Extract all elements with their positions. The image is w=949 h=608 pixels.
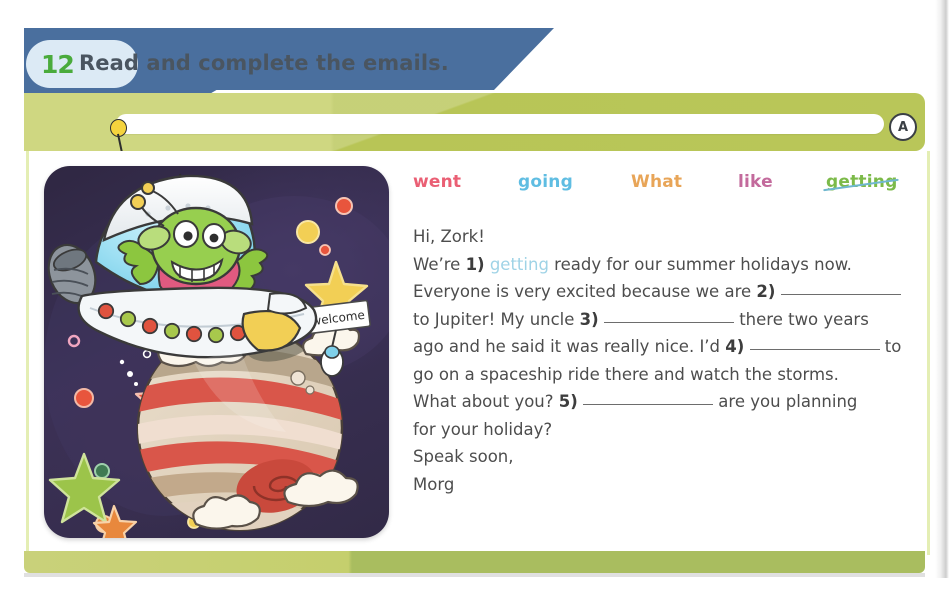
blank-number-1: 1) [466,255,485,274]
worksheet-page: 12 Read and complete the emails. A [0,0,949,608]
email-signature: Morg [413,475,454,494]
email-text: What about you? [413,392,559,411]
card-bottom-bar [24,551,925,573]
section-badge: A [889,113,917,141]
word-bank-item-what[interactable]: What [631,172,682,192]
word-bank-item-going[interactable]: going [518,172,573,192]
email-line: Everyone is very excited because we are … [413,278,933,306]
email-line: Speak soon, [413,443,933,471]
email-closing: Speak soon, [413,447,514,466]
email-line: ago and he said it was really nice. I’d … [413,333,933,361]
space-illustration-svg: welcome [44,166,389,538]
answer-blank-4[interactable] [750,349,880,350]
email-line: for your holiday? [413,416,933,444]
email-text: ago and he said it was really nice. I’d [413,337,725,356]
name-answer-bar[interactable] [116,114,884,134]
email-line: We’re 1) getting ready for our summer ho… [413,251,933,279]
card-bottom-shadow [24,573,925,577]
email-text: We’re [413,255,466,274]
blank-number-4: 4) [725,337,744,356]
word-bank-item-like[interactable]: like [738,172,773,192]
email-text: go on a spaceship ride there and watch t… [413,365,839,384]
word-bank-item-went[interactable]: went [413,172,461,192]
email-line: Hi, Zork! [413,223,933,251]
email-text: there two years [734,310,869,329]
exercise-number: 12 [41,50,74,79]
blank-number-3: 3) [580,310,599,329]
email-line: Morg [413,471,933,499]
space-illustration: welcome [44,166,389,538]
email-text: to [880,337,902,356]
email-line: What about you? 5) are you planning [413,388,933,416]
email-text: to Jupiter! My uncle [413,310,580,329]
blank-number-2: 2) [756,282,775,301]
email-text: are you planning [713,392,857,411]
email-text: ready for our summer holidays now. [554,255,852,274]
email-greeting: Hi, Zork! [413,227,485,246]
email-text: for your holiday? [413,420,552,439]
filled-answer-1: getting [485,255,555,274]
answer-blank-5[interactable] [583,404,713,405]
word-bank: went going What like getting [413,172,925,198]
answer-blank-2[interactable] [781,294,901,295]
page-bottom-margin [0,578,949,608]
email-line: go on a spaceship ride there and watch t… [413,361,933,389]
email-line: to Jupiter! My uncle 3) there two years [413,306,933,334]
email-text: Everyone is very excited because we are [413,282,756,301]
page-edge-shadow [935,0,949,578]
email-body: Hi, Zork! We’re 1) getting ready for our… [413,223,933,498]
blank-number-5: 5) [559,392,578,411]
page-title: Read and complete the emails. [79,51,449,75]
answer-blank-3[interactable] [604,322,734,323]
